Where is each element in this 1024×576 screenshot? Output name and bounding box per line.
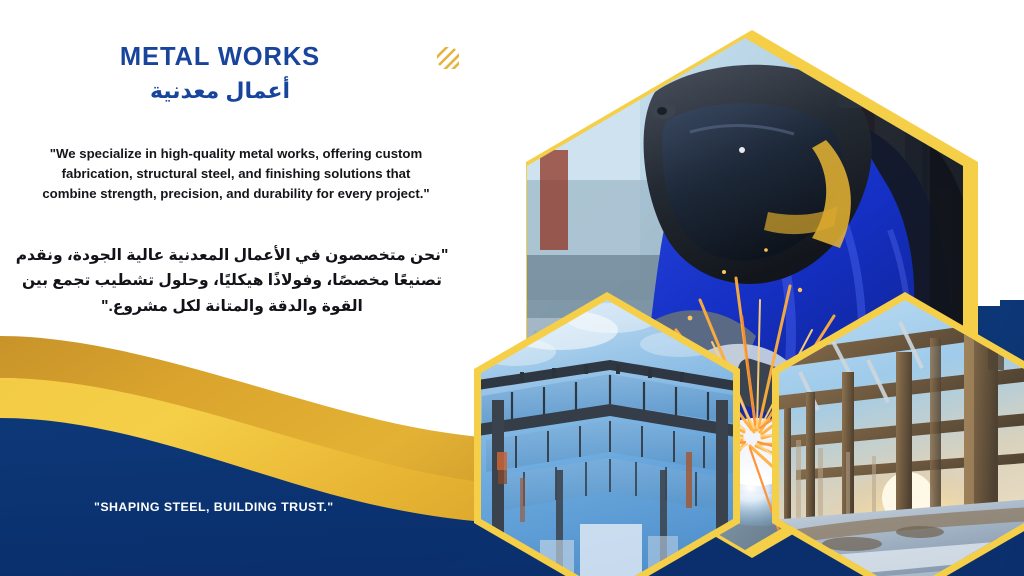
- presentation-slide: METAL WORKS أعمال معدنية "We specialize …: [0, 0, 1024, 576]
- page-title-ar: أعمال معدنية: [0, 76, 440, 106]
- english-quote: "We specialize in high-quality metal wor…: [36, 144, 436, 205]
- arabic-quote: "نحن متخصصون في الأعمال المعدنية عالية ا…: [14, 243, 450, 319]
- title-block: METAL WORKS أعمال معدنية: [0, 44, 440, 105]
- diagonal-stripe-square-icon: [437, 47, 459, 69]
- content-column: METAL WORKS أعمال معدنية "We specialize …: [0, 0, 470, 576]
- footer-tagline: "SHAPING STEEL, BUILDING TRUST.": [94, 500, 334, 514]
- page-title-en: METAL WORKS: [0, 44, 440, 72]
